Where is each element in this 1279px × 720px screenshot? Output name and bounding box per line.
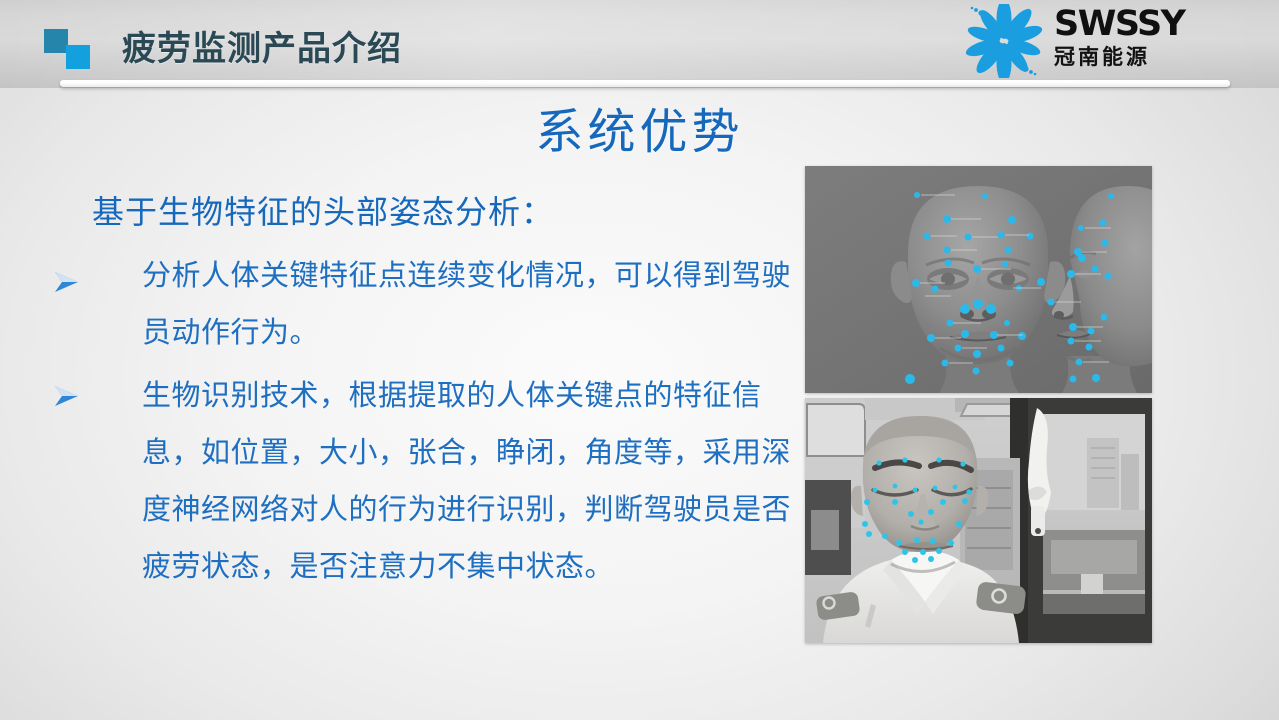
- body-lead-text: 基于生物特征的头部姿态分析：: [92, 190, 792, 234]
- bullet-text: 生物识别技术，根据提取的人体关键点的特征信息，如位置，大小，张合，睁闭，角度等，…: [142, 380, 791, 583]
- bullet-text: 分析人体关键特征点连续变化情况，可以得到驾驶员动作行为。: [142, 260, 791, 349]
- logo-subtitle: 冠南能源: [1054, 44, 1218, 72]
- presentation-slide: 疲劳监测产品介绍: [0, 0, 1279, 720]
- blue-petal-flower-logo-icon: [962, 4, 1046, 78]
- list-item: 分析人体关键特征点连续变化情况，可以得到驾驶员动作行为。: [92, 248, 792, 362]
- logo-text-block: SWSSY 冠南能源: [1054, 6, 1218, 72]
- list-item: 生物识别技术，根据提取的人体关键点的特征信息，如位置，大小，张合，睁闭，角度等，…: [92, 368, 792, 596]
- bullet-arrow-icon: [52, 268, 82, 296]
- header-divider: [60, 80, 1230, 87]
- header-square-light-icon: [66, 45, 90, 69]
- driver-cab-fatigue-photo-image: [805, 398, 1152, 643]
- company-logo: SWSSY 冠南能源: [962, 2, 1218, 80]
- slide-title: 系统优势: [0, 92, 1279, 162]
- 3d-face-landmark-model-image: [805, 166, 1152, 393]
- slide-body: 基于生物特征的头部姿态分析： 分析人体关键特征点连续变化情况，可以得到驾驶员动作…: [92, 190, 792, 602]
- logo-wordmark: SWSSY: [1054, 6, 1218, 42]
- header-square-dark-icon: [44, 29, 68, 53]
- header-title: 疲劳监测产品介绍: [122, 21, 402, 70]
- bullet-arrow-icon: [52, 382, 82, 410]
- bullet-list: 分析人体关键特征点连续变化情况，可以得到驾驶员动作行为。 生物识别技术，根据提取…: [92, 248, 792, 596]
